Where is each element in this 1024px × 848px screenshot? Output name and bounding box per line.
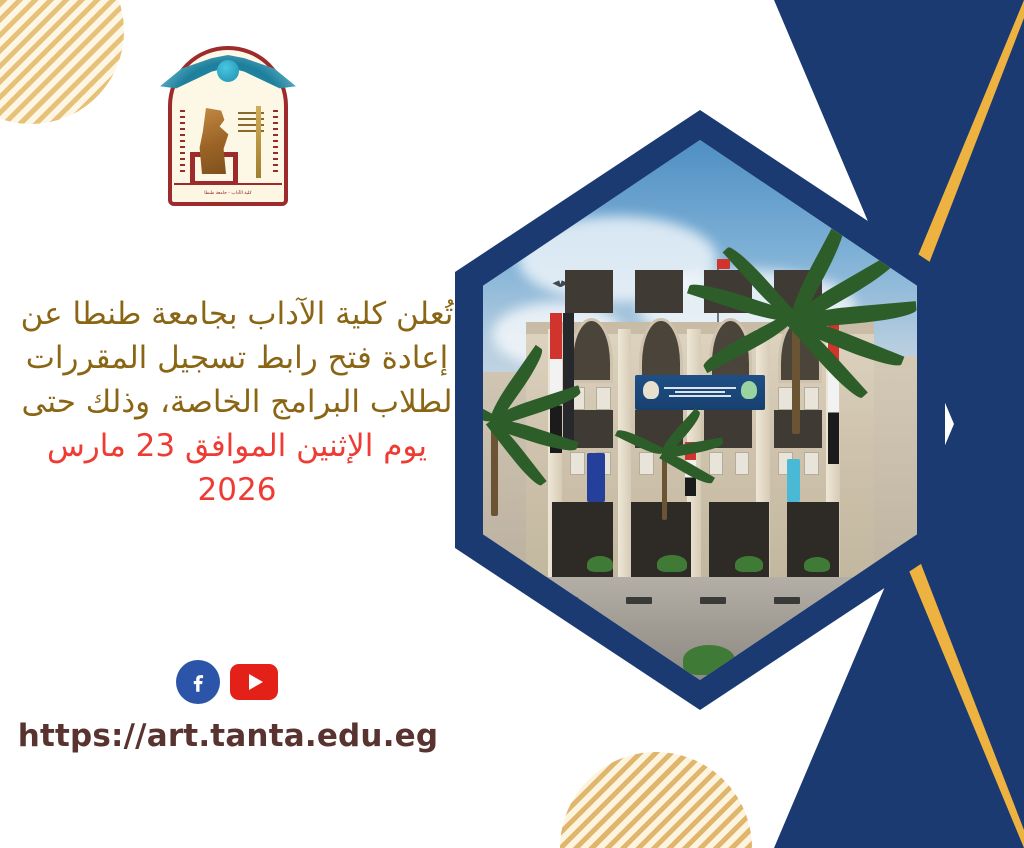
announcement-line-3: لطلاب البرامج الخاصة، وذلك حتى	[22, 384, 453, 420]
road-marking	[774, 597, 800, 604]
announcement-line-2: إعادة فتح رابط تسجيل المقررات	[26, 340, 449, 376]
hexagon-photo-frame	[455, 110, 945, 710]
announcement-text: تُعلن كلية الآداب بجامعة طنطا عن إعادة ف…	[18, 292, 456, 512]
shrub	[587, 556, 613, 572]
website-url[interactable]: https://art.tanta.edu.eg	[0, 718, 456, 754]
youtube-icon[interactable]	[230, 664, 278, 700]
staff-icon	[256, 106, 261, 178]
announcement-deadline-date: يوم الإثنين الموافق 23 مارس 2026	[18, 424, 456, 512]
palm-tree	[483, 324, 619, 484]
road-marking	[700, 597, 726, 604]
striped-quarter-circle-top-left	[0, 0, 124, 124]
logo-caption-text: كلية الآداب - جامعة طنطا	[204, 191, 251, 196]
shrub	[804, 557, 830, 572]
shrub	[657, 555, 687, 572]
cyan-banner	[787, 459, 800, 502]
poster-canvas: كلية الآداب - جامعة طنطا تُعلن كلية الآد…	[0, 0, 1024, 848]
hieroglyph-column-right	[273, 110, 278, 172]
air-conditioner	[804, 452, 819, 475]
announcement-line-1: تُعلن كلية الآداب بجامعة طنطا عن	[21, 296, 454, 332]
window	[565, 270, 613, 313]
social-links	[176, 660, 278, 704]
hieroglyph-column-left	[180, 110, 185, 172]
faculty-logo: كلية الآداب - جامعة طنطا	[168, 46, 288, 206]
play-triangle-icon	[249, 674, 263, 690]
shrub	[735, 556, 763, 572]
road-marking	[626, 597, 652, 604]
palm-tree-small	[644, 388, 754, 508]
logo-caption: كلية الآداب - جامعة طنطا	[174, 183, 282, 201]
rooftop-flag	[717, 259, 730, 269]
window	[635, 270, 683, 313]
sun-disk-icon	[217, 60, 239, 82]
building-column	[618, 329, 632, 577]
facebook-icon[interactable]	[176, 660, 220, 704]
striped-half-circle-bottom	[560, 752, 752, 848]
